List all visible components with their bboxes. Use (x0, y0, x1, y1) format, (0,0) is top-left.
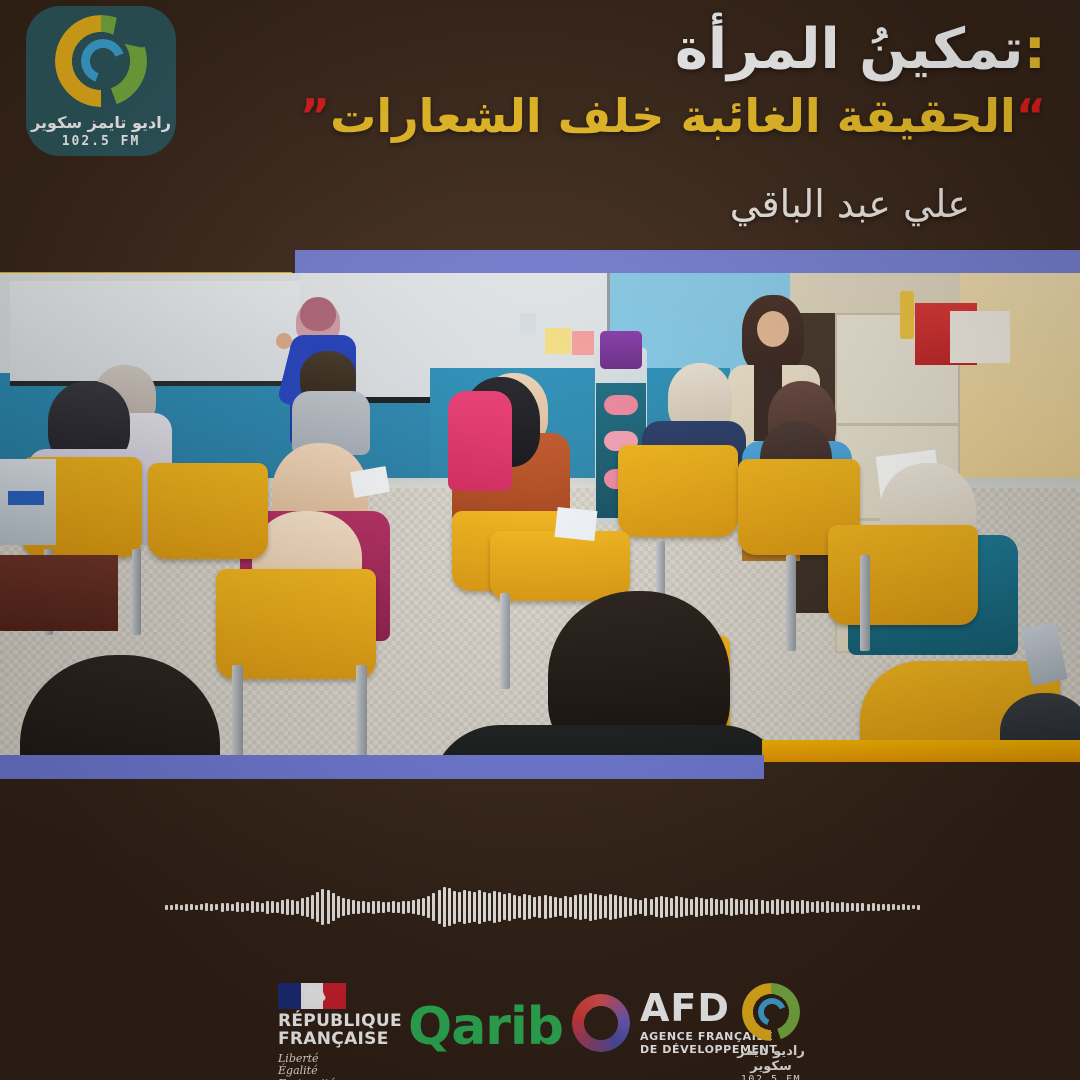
workshop-photo (0, 273, 1080, 757)
waveform-bar (579, 894, 582, 920)
waveform-bar (705, 899, 708, 915)
waveform-bar (861, 903, 864, 911)
waveform-bar (311, 895, 314, 919)
waveform-bar (796, 901, 799, 913)
waveform-bar (559, 898, 562, 916)
waveform-bar (443, 887, 446, 927)
waveform-bar (432, 893, 435, 921)
station-logo-badge: راديو تايمز سكوير 102.5 FM (26, 6, 176, 156)
waveform-bar (417, 899, 420, 915)
wall-note-1 (545, 328, 571, 354)
waveform-bar (463, 890, 466, 924)
presenter-blue-head (300, 297, 336, 331)
waveform-bar (801, 900, 804, 914)
waveform-bar (846, 903, 849, 912)
waveform-bar (327, 890, 330, 924)
logo-station-name: راديو تايمز سكوير (31, 113, 171, 132)
waveform-bar (205, 903, 208, 911)
waveform-bar (458, 892, 461, 922)
waveform-bar (710, 898, 713, 916)
radio-footer-name: راديو تايمز سكوير (726, 1044, 816, 1074)
station-logo-icon (55, 15, 147, 107)
waveform-bar (917, 905, 920, 910)
presenter-beige-face (757, 311, 789, 347)
wall-note-2 (572, 331, 594, 355)
waveform-bar (766, 901, 769, 913)
waveform-bar (634, 899, 637, 915)
waveform-bar (306, 897, 309, 917)
waveform-bar (210, 904, 213, 911)
waveform-bar (291, 900, 294, 915)
partner-logos-strip: RÉPUBLIQUE FRANÇAISE Liberté Égalité Fra… (0, 975, 1080, 1075)
waveform-bar (629, 898, 632, 916)
waveform-bar (594, 894, 597, 920)
display-item-1 (604, 395, 638, 415)
frame-bar-bottom-purple (0, 755, 764, 779)
waveform-bar (397, 902, 400, 913)
author-byline: علي عبد الباقي (730, 182, 970, 226)
waveform-bar (266, 901, 269, 914)
waveform-bar (619, 896, 622, 918)
waveform-bar (296, 901, 299, 914)
waveform-bar (624, 897, 627, 917)
waveform-bar (569, 897, 572, 917)
waveform-bar (281, 900, 284, 914)
waveform-bar (781, 900, 784, 914)
chair (618, 445, 738, 537)
waveform-bar (892, 904, 895, 910)
waveform-bar (246, 903, 249, 911)
waveform-bar (195, 905, 198, 910)
waveform-bar (887, 904, 890, 911)
waveform-bar (695, 897, 698, 917)
waveform-bar (337, 896, 340, 918)
waveform-bar (735, 899, 738, 915)
quote-open-mark: ” (300, 89, 330, 143)
radio-logo-icon (742, 983, 800, 1041)
waveform-bar (170, 905, 173, 910)
waveform-bar (720, 900, 723, 914)
logo-blue-arc-icon (81, 39, 125, 83)
waveform-bar (882, 904, 885, 910)
waveform-bar (422, 898, 425, 916)
waveform-bar (261, 903, 264, 912)
waveform-bar (175, 904, 178, 910)
waveform-bar (165, 905, 168, 910)
audio-waveform[interactable] (165, 878, 920, 936)
title-block: :تمكينُ المرأة “الحقيقة الغائبة خلف الشع… (286, 18, 1046, 146)
waveform-bar (841, 902, 844, 912)
waveform-bar (821, 902, 824, 912)
waveform-bar (851, 903, 854, 911)
radio-footer-frequency: 102.5 FM (726, 1074, 816, 1080)
waveform-bar (180, 905, 183, 910)
chair-leg (132, 549, 141, 635)
waveform-bar (912, 905, 915, 909)
photo-block (0, 250, 1080, 780)
waveform-bar (791, 900, 794, 914)
chair (148, 463, 268, 559)
waveform-bar (190, 904, 193, 910)
waveform-bar (589, 893, 592, 921)
waveform-bar (831, 902, 834, 912)
waveform-bar (700, 898, 703, 916)
rf-line-2: FRANÇAISE (278, 1031, 398, 1049)
waveform-bar (332, 893, 335, 921)
waveform-bar (715, 899, 718, 915)
paper-sheet (555, 507, 598, 541)
waveform-bar (241, 903, 244, 912)
waveform-bar (473, 892, 476, 922)
waveform-bar (498, 892, 501, 922)
waveform-bar (377, 901, 380, 913)
waveform-bar (316, 892, 319, 922)
waveform-bar (488, 893, 491, 921)
waveform-bar (761, 900, 764, 914)
waveform-bar (771, 900, 774, 914)
republique-francaise-label: RÉPUBLIQUE FRANÇAISE (278, 1013, 398, 1049)
waveform-bar (453, 891, 456, 924)
waveform-bar (468, 891, 471, 923)
waveform-bar (750, 900, 753, 914)
waveform-bar (877, 904, 880, 911)
waveform-bar (660, 896, 663, 918)
waveform-bar (438, 890, 441, 924)
bottle (900, 291, 914, 339)
poster-canvas: راديو تايمز سكوير 102.5 FM :تمكينُ المرأ… (0, 0, 1080, 1080)
waveform-bar (185, 904, 188, 911)
waveform-bar (574, 895, 577, 919)
waveform-bar (670, 898, 673, 916)
quote-close-mark: “ (1016, 89, 1046, 143)
chair (216, 569, 376, 679)
republique-francaise-logo: RÉPUBLIQUE FRANÇAISE Liberté Égalité Fra… (278, 983, 398, 1080)
waveform-bar (867, 904, 870, 911)
waveform-bar (236, 902, 239, 912)
waveform-bar (745, 899, 748, 915)
waveform-bar (347, 899, 350, 915)
subtitle-text: الحقيقة الغائبة خلف الشعارات (330, 89, 1016, 143)
afd-ring-icon (572, 994, 630, 1052)
attendee-body (430, 725, 790, 757)
waveform-bar (650, 899, 653, 915)
waveform-bar (554, 897, 557, 917)
page-title: :تمكينُ المرأة (286, 18, 1046, 82)
waveform-bar (372, 901, 375, 914)
waveform-bar (231, 904, 234, 911)
waveform-bar (564, 896, 567, 918)
waveform-bar (448, 888, 451, 926)
waveform-bar (544, 895, 547, 919)
chair-leg (786, 555, 796, 651)
waveform-bar (609, 894, 612, 920)
waveform-bar (271, 901, 274, 913)
waveform-bar (493, 891, 496, 923)
waveform-bar (251, 901, 254, 913)
waveform-bar (276, 902, 279, 913)
waveform-bar (352, 900, 355, 914)
waveform-bar (685, 898, 688, 916)
waveform-bar (382, 902, 385, 913)
light-switch (520, 313, 536, 335)
wall-poster-white (950, 311, 1010, 363)
water-cooler-bottle (600, 331, 642, 369)
radio-times-square-footer-logo: راديو تايمز سكوير 102.5 FM (726, 983, 816, 1080)
waveform-bar (226, 903, 229, 911)
waveform-bar (533, 897, 536, 917)
waveform-bar (725, 899, 728, 915)
equipment-label (8, 491, 44, 505)
waveform-bar (200, 904, 203, 910)
waveform-bar (614, 895, 617, 919)
waveform-bar (644, 898, 647, 916)
waveform-bar (786, 901, 789, 913)
waveform-bar (872, 903, 875, 911)
french-flag-marianne-icon (278, 983, 346, 1009)
waveform-bar (549, 896, 552, 918)
chair-leg (500, 593, 510, 689)
waveform-bar (584, 895, 587, 919)
chair (828, 525, 978, 625)
waveform-bar (215, 904, 218, 910)
waveform-bar (680, 897, 683, 917)
frame-bar-top-purple (295, 250, 1080, 273)
republique-motto: Liberté Égalité Fraternité (278, 1053, 398, 1080)
cabinet-seam-1 (835, 423, 960, 426)
waveform-bar (518, 896, 521, 918)
waveform-bar (907, 905, 910, 910)
chair-leg (232, 665, 243, 757)
waveform-bar (599, 895, 602, 919)
waveform-bar (503, 894, 506, 920)
waveform-bar (755, 899, 758, 915)
waveform-bar (407, 901, 410, 913)
waveform-bar (655, 897, 658, 917)
waveform-bar (427, 896, 430, 918)
radio-logo-blue-arc-icon (758, 998, 786, 1026)
waveform-bar (811, 902, 814, 912)
waveform-bar (826, 901, 829, 913)
waveform-bar (806, 901, 809, 913)
waveform-bar (256, 902, 259, 912)
waveform-bar (513, 895, 516, 919)
waveform-bar (604, 896, 607, 918)
projection-screen-left (10, 281, 310, 386)
waveform-bar (387, 902, 390, 912)
wooden-desk (0, 555, 118, 631)
presenter-blue-hand (276, 333, 292, 349)
frame-bar-bottom-yellow (762, 740, 1080, 762)
title-main-text: تمكينُ المرأة (675, 17, 1024, 82)
waveform-bar (362, 901, 365, 913)
waveform-bar (523, 894, 526, 920)
waveform-bar (740, 900, 743, 914)
waveform-bar (690, 899, 693, 915)
waveform-bar (675, 896, 678, 918)
waveform-bar (478, 890, 481, 924)
waveform-bar (342, 898, 345, 916)
waveform-bar (367, 902, 370, 913)
waveform-bar (301, 898, 304, 916)
waveform-bar (856, 903, 859, 912)
waveform-bar (836, 903, 839, 912)
logo-notch-icon (112, 8, 152, 48)
waveform-bar (639, 900, 642, 914)
waveform-bar (412, 900, 415, 914)
waveform-bar (776, 899, 779, 915)
chair (490, 531, 630, 601)
chair-leg (356, 665, 367, 757)
chair-leg (860, 555, 870, 651)
page-subtitle: “الحقيقة الغائبة خلف الشعارات” (286, 88, 1046, 146)
title-colon: : (1024, 17, 1046, 82)
waveform-bar (816, 901, 819, 913)
waveform-bar (221, 903, 224, 912)
waveform-bar (508, 893, 511, 921)
waveform-bar (483, 892, 486, 922)
waveform-bar (357, 901, 360, 914)
attendee-body (448, 391, 512, 491)
waveform-bar (665, 897, 668, 917)
waveform-bar (392, 901, 395, 913)
waveform-bar (286, 899, 289, 915)
waveform-bar (528, 895, 531, 919)
waveform-bar (321, 889, 324, 925)
waveform-bar (730, 898, 733, 916)
waveform-bar (897, 905, 900, 910)
qarib-logo: Qarib (408, 997, 563, 1057)
waveform-bar (402, 901, 405, 914)
logo-station-frequency: 102.5 FM (62, 134, 141, 149)
waveform-bar (902, 904, 905, 910)
waveform-bar (538, 896, 541, 918)
